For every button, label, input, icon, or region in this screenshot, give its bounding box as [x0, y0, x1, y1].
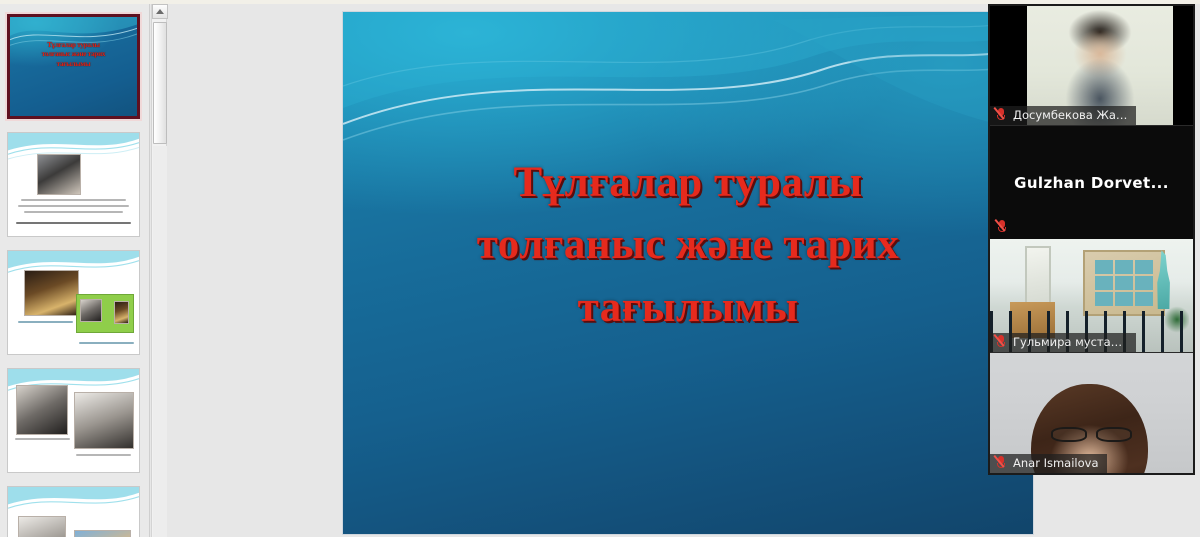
slide-thumbnail-3-canvas	[8, 251, 139, 354]
thumbnail-photo	[74, 392, 134, 450]
participant-name-4: Anar Ismailova	[1013, 456, 1099, 470]
slide-thumbnail-pane[interactable]: Тұлғалар туралы толғаныс және тарих тағы…	[0, 4, 150, 537]
participant-name-2: Gulzhan Dorvet...	[1014, 174, 1169, 192]
participant-name-3: Гульмира мустафае...	[1013, 335, 1128, 349]
slide-thumbnail-3[interactable]	[7, 250, 140, 355]
chevron-up-icon	[156, 9, 164, 14]
glasses	[1051, 427, 1132, 441]
slide-title: Тұлғалар туралы толғаныс және тарих тағы…	[343, 152, 1033, 339]
thumbnail-photo	[76, 294, 134, 333]
participant-tile-3[interactable]: Гульмира мустафае...	[990, 239, 1193, 353]
scrollbar-thumb[interactable]	[153, 22, 167, 144]
slide-thumbnail-5-canvas	[8, 487, 139, 537]
mic-off-icon	[997, 220, 1008, 234]
participant-name-bar-3: Гульмира мустафае...	[990, 333, 1136, 352]
participant-tile-4[interactable]: Anar Ismailova	[990, 353, 1193, 473]
slide-thumbnail-1[interactable]: Тұлғалар туралы толғаныс және тарих тағы…	[7, 14, 140, 119]
thumbnail-photo	[74, 530, 132, 537]
thumbnail-photo	[24, 270, 79, 316]
thumbnail-photo	[37, 154, 82, 195]
slide-thumbnail-1-title: Тұлғалар туралы толғаныс және тарих тағы…	[18, 41, 130, 69]
slide-thumbnail-4[interactable]	[7, 368, 140, 473]
thumbnail-photo	[16, 385, 68, 434]
scroll-up-button[interactable]	[152, 4, 168, 19]
thumbnail-pane-scrollbar[interactable]	[151, 4, 167, 537]
slide-title-line-2: толғаныс және тарих	[371, 214, 1005, 276]
slide-thumbnail-4-canvas	[8, 369, 139, 472]
thumbnail-photo	[18, 516, 65, 537]
slide-title-line-3: тағылымы	[371, 277, 1005, 339]
mic-off-icon	[996, 456, 1007, 470]
wave-decoration-icon	[8, 487, 139, 518]
slide-thumbnail-2[interactable]	[7, 132, 140, 237]
participant-tile-1[interactable]: Досумбекова Жанар	[990, 6, 1193, 126]
participant-name-bar-1: Досумбекова Жанар	[990, 106, 1136, 125]
mic-off-icon	[996, 335, 1007, 349]
slide-thumbnail-2-canvas	[8, 133, 139, 236]
slide-thumbnail-5[interactable]	[7, 486, 140, 537]
current-slide[interactable]: Тұлғалар туралы толғаныс және тарих тағы…	[343, 12, 1033, 534]
scrollbar-track[interactable]	[153, 146, 167, 537]
slide-title-line-1: Тұлғалар туралы	[371, 152, 1005, 214]
participant-tile-2[interactable]: Gulzhan Dorvet...	[990, 126, 1193, 239]
screen-root: Тұлғалар туралы толғаныс және тарих тағы…	[0, 0, 1200, 537]
participant-name-bar-4: Anar Ismailova	[990, 454, 1107, 473]
participant-name-1: Досумбекова Жанар	[1013, 108, 1128, 122]
slide-thumbnail-1-canvas: Тұлғалар туралы толғаныс және тарих тағы…	[10, 17, 137, 116]
mic-off-icon	[996, 108, 1007, 122]
video-participants-panel[interactable]: Досумбекова Жанар Gulzhan Dorvet...	[988, 4, 1195, 475]
